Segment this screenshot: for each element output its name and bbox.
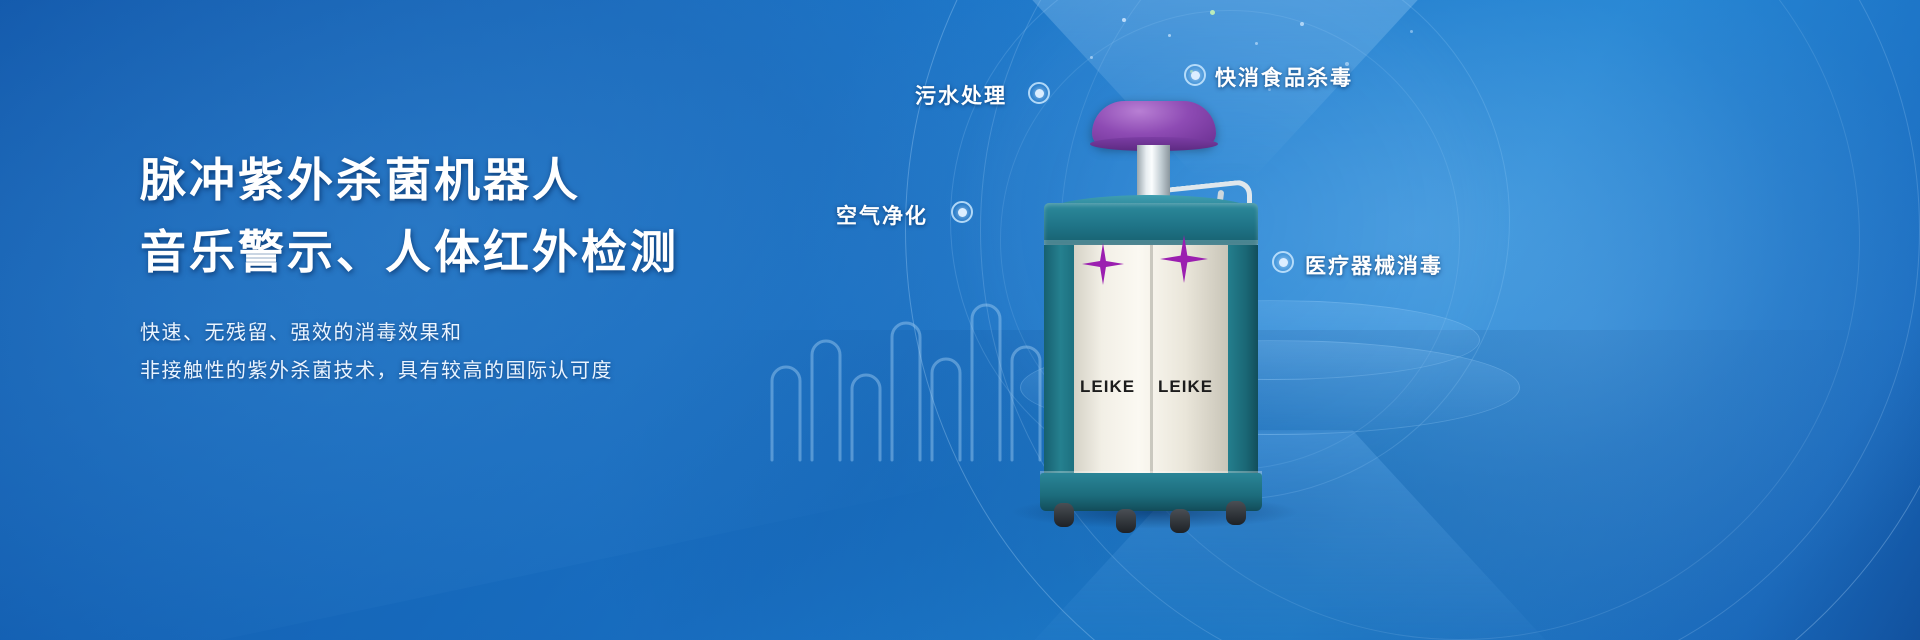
feature-label-food-disinfection: 快消食品杀毒 bbox=[1215, 62, 1353, 92]
description-line-1: 快速、无残留、强效的消毒效果和 bbox=[140, 314, 860, 352]
caster-wheel bbox=[1054, 503, 1074, 527]
device-brand-left: LEIKE bbox=[1080, 377, 1135, 397]
description-block: 快速、无残留、强效的消毒效果和 非接触性的紫外杀菌技术，具有较高的国际认可度 bbox=[140, 314, 860, 390]
sparkle-dot bbox=[1210, 10, 1215, 15]
sparkle-dot bbox=[1090, 56, 1093, 59]
caster-wheel bbox=[1116, 509, 1136, 533]
device-top-deck bbox=[1044, 203, 1258, 245]
node-dot-icon-air bbox=[951, 201, 973, 223]
uv-disinfection-robot: LEIKE LEIKE bbox=[1020, 95, 1280, 515]
caster-wheel bbox=[1170, 509, 1190, 533]
feature-label-air-purification: 空气净化 bbox=[836, 200, 928, 230]
device-body-left-panel bbox=[1044, 245, 1074, 475]
headline-line-1: 脉冲紫外杀菌机器人 bbox=[140, 150, 860, 212]
headline-line-2: 音乐警示、人体红外检测 bbox=[140, 222, 860, 284]
sparkle-dot bbox=[1255, 42, 1258, 45]
sparkle-dot bbox=[1410, 30, 1413, 33]
sparkle-dot bbox=[1122, 18, 1126, 22]
device-body-right-panel bbox=[1228, 245, 1258, 475]
description-line-2: 非接触性的紫外杀菌技术，具有较高的国际认可度 bbox=[140, 352, 860, 390]
copy-block: 脉冲紫外杀菌机器人 音乐警示、人体红外检测 快速、无残留、强效的消毒效果和 非接… bbox=[140, 150, 860, 390]
hero-banner: 脉冲紫外杀菌机器人 音乐警示、人体红外检测 快速、无残留、强效的消毒效果和 非接… bbox=[0, 0, 1920, 640]
feature-label-wastewater: 污水处理 bbox=[915, 80, 1007, 110]
device-panel-seam bbox=[1150, 245, 1153, 475]
feature-label-medical-device: 医疗器械消毒 bbox=[1305, 250, 1443, 280]
device-brand-right: LEIKE bbox=[1158, 377, 1213, 397]
caster-wheel bbox=[1226, 501, 1246, 525]
sparkle-dot bbox=[1168, 34, 1171, 37]
sparkle-dot bbox=[1300, 22, 1304, 26]
node-dot-icon-food bbox=[1184, 64, 1206, 86]
